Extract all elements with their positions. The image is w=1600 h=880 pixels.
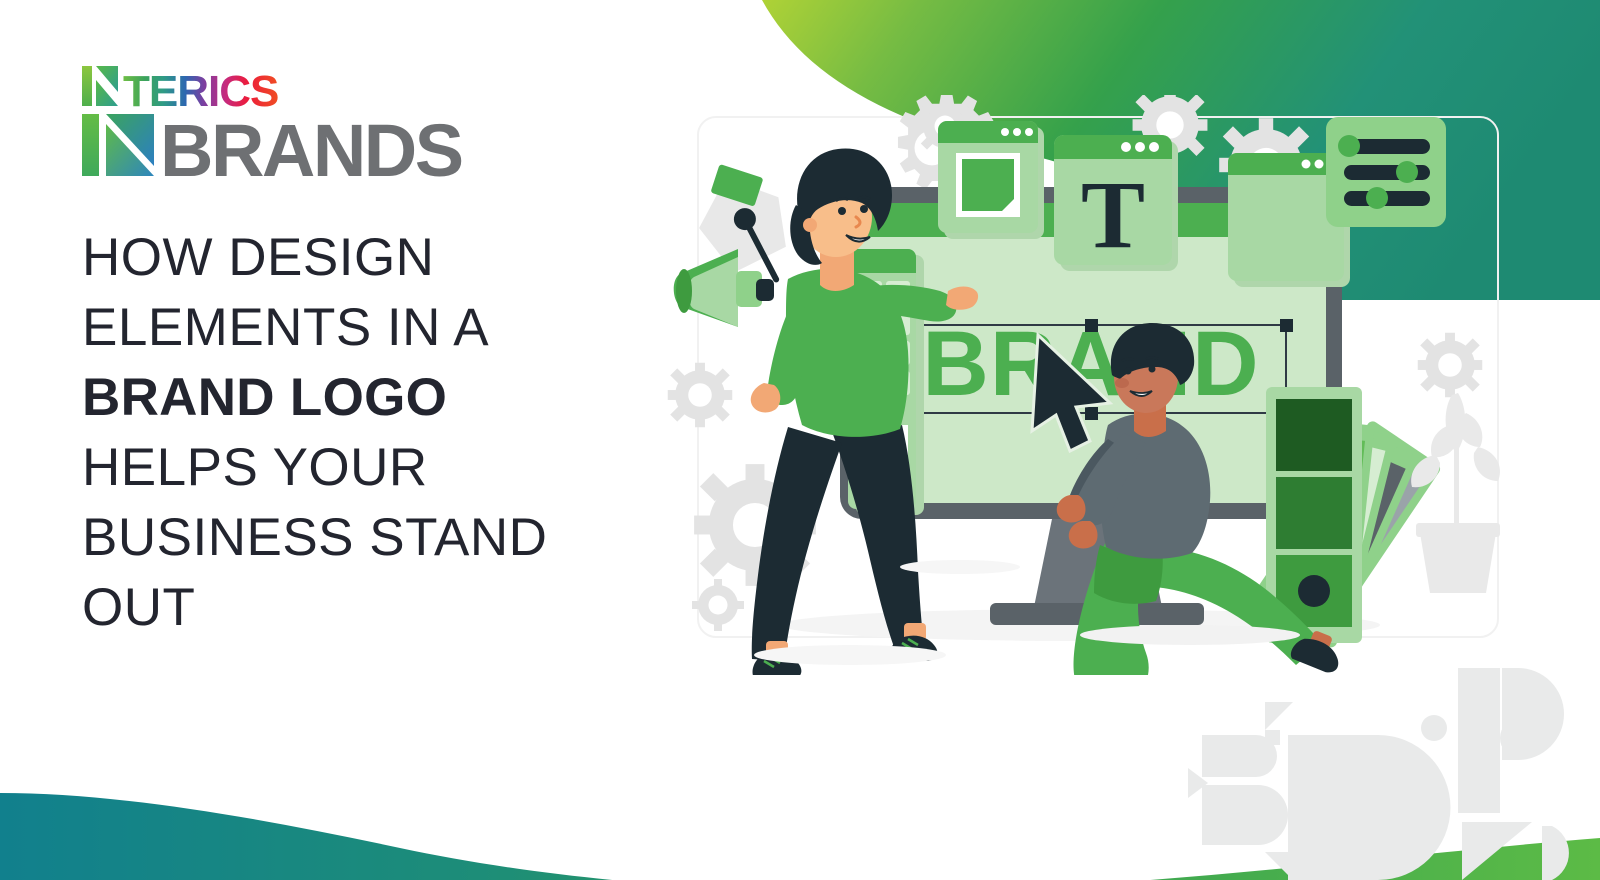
watermark-dot-1: [1421, 715, 1447, 741]
headline-line-4: HELPS YOUR: [82, 433, 682, 503]
watermark-tri-2: [1265, 702, 1293, 730]
woman-hand-left: [751, 383, 781, 412]
shadow-megaphone: [900, 560, 1020, 574]
handle-tm: [1085, 319, 1098, 332]
megaphone-icon: [674, 249, 774, 327]
shadow-woman: [754, 645, 946, 665]
slider-knob-3: [1366, 187, 1388, 209]
slider-knob-1: [1338, 135, 1360, 157]
woman-eye-1: [838, 207, 846, 215]
browser-card-dot-2: [1315, 160, 1324, 169]
swatch-chip-2: [1276, 477, 1352, 549]
watermark-dot-2: [1500, 718, 1540, 758]
watermark-b-stem-1: [1202, 735, 1244, 777]
logo-line2-brands: BRANDS: [160, 109, 462, 178]
headline-line-2: ELEMENTS IN A: [82, 293, 682, 363]
handle-tr: [1280, 319, 1293, 332]
logo-line1-n: [96, 66, 118, 106]
watermark-b-stem-2: [1202, 785, 1244, 845]
slider-knob-2: [1396, 161, 1418, 183]
headline-line-5: BUSINESS STAND: [82, 503, 682, 573]
image-card-dot-3: [1025, 128, 1033, 136]
shadow-man: [1080, 625, 1300, 645]
slider-panel: [1326, 117, 1446, 227]
gear-icon-5: [692, 579, 744, 631]
type-card-dot-2: [1135, 142, 1145, 152]
watermark-b-bowl-2: [1244, 785, 1288, 845]
type-card: T: [1054, 135, 1178, 271]
handle-bm: [1085, 407, 1098, 420]
tool-palette-header-fill: [848, 261, 916, 273]
type-card-glyph: T: [1081, 161, 1145, 268]
headline-line-1: HOW DESIGN: [82, 223, 682, 293]
type-card-dot-3: [1149, 142, 1159, 152]
page-title: HOW DESIGN ELEMENTS IN A BRAND LOGO HELP…: [82, 223, 682, 643]
type-card-dot-1: [1121, 142, 1131, 152]
left-content-column: TERICS BRANDS HOW DESIGN ELEMENTS IN A B…: [82, 62, 682, 643]
brand-design-illustration: BRAND: [660, 95, 1540, 675]
man-eye-2: [1149, 366, 1156, 373]
logo-line2-n: [106, 114, 154, 176]
image-card-dot-1: [1001, 128, 1009, 136]
swatch-book-hole: [1298, 575, 1330, 607]
interics-inbrands-logo[interactable]: TERICS BRANDS: [82, 62, 482, 177]
banner: TERICS BRANDS HOW DESIGN ELEMENTS IN A B…: [0, 0, 1600, 880]
browser-card-dot-1: [1302, 160, 1311, 169]
logo-line1-i: [82, 66, 92, 106]
watermark-partial-c: [1542, 826, 1569, 880]
swatch-chip-1: [1276, 399, 1352, 471]
image-card-titlebar-fill: [938, 133, 1038, 143]
gear-icon-8: [1418, 333, 1482, 397]
watermark-letters: [1180, 640, 1600, 880]
image-card-dot-2: [1013, 128, 1021, 136]
man-blush: [1115, 378, 1129, 388]
woman-eye-2: [860, 205, 868, 213]
man-eye-1: [1125, 368, 1132, 375]
headline-line-3: BRAND LOGO: [82, 363, 682, 433]
watermark-b-stem-3: [1458, 668, 1500, 813]
image-card: [938, 121, 1044, 239]
headline-line-6: OUT: [82, 573, 682, 643]
watermark-tri-4: [1462, 822, 1532, 880]
woman-ear: [803, 218, 817, 232]
watermark-big-bowl: [1288, 735, 1450, 880]
image-card-shape: [962, 159, 1014, 211]
watermark-sq-1: [1265, 730, 1280, 745]
logo-line2-i: [82, 114, 99, 176]
